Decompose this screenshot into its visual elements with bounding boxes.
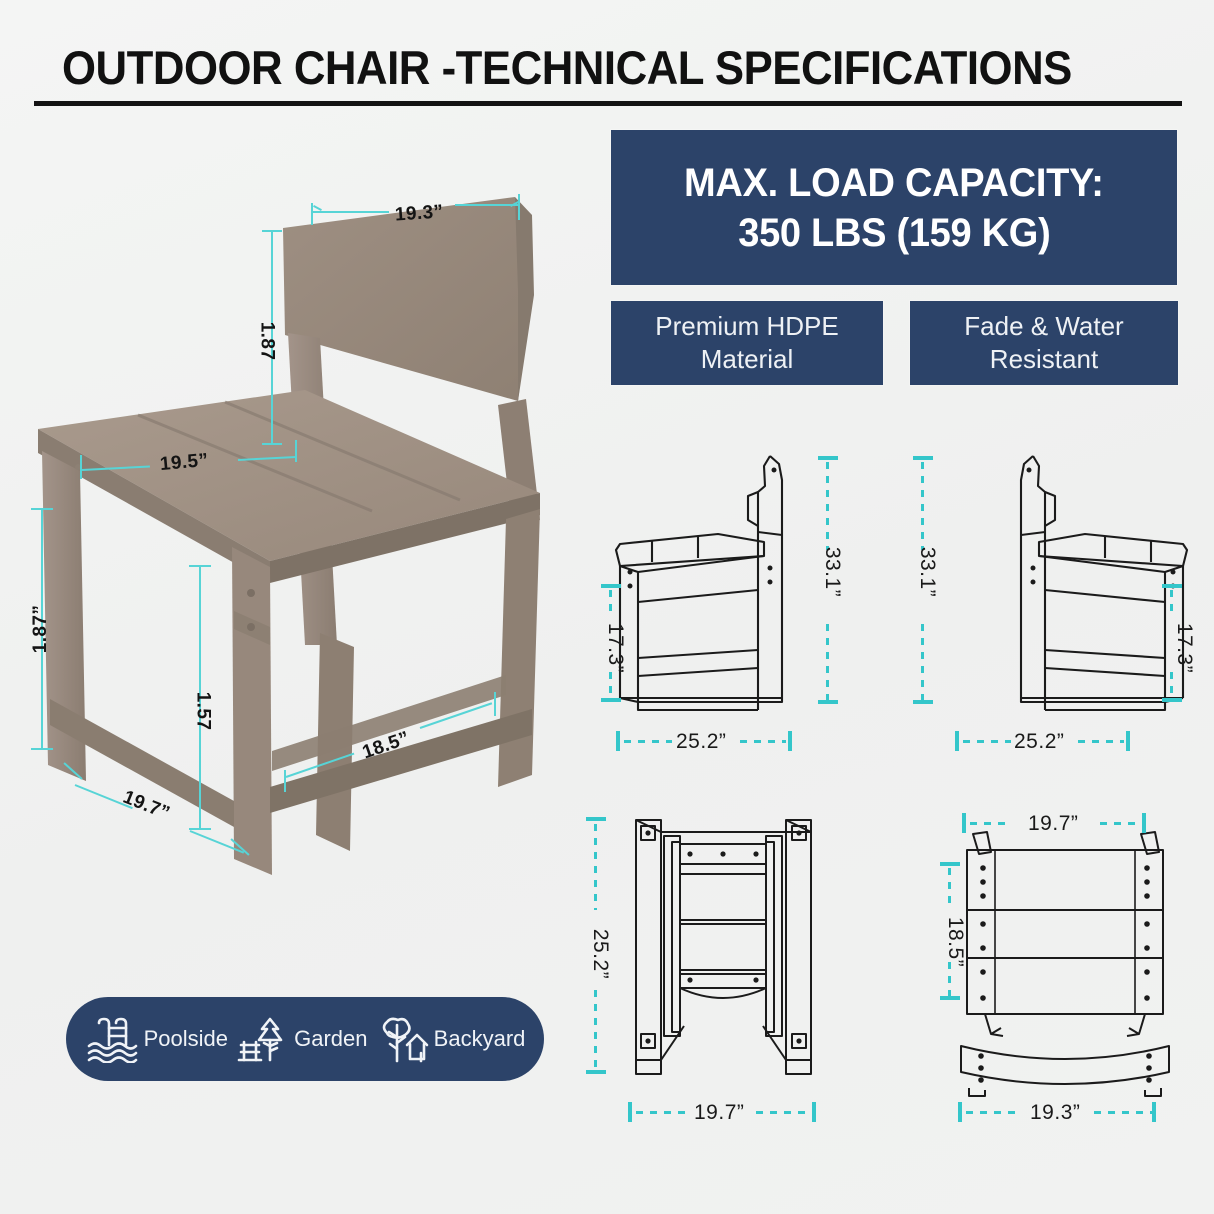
feature-badge-hdpe-label: Premium HDPE Material bbox=[611, 310, 883, 377]
hero-dim-seat-width-label: 19.5” bbox=[159, 450, 209, 476]
hero-dim-total-height-label: 1.87” bbox=[30, 605, 52, 653]
side-view-left-depth-label: 25.2” bbox=[676, 730, 726, 754]
screw-icon bbox=[247, 589, 255, 597]
front-view-top-width-label: 19.7” bbox=[1028, 812, 1078, 836]
use-case-garden-label: Garden bbox=[294, 1026, 367, 1052]
chair-seat bbox=[38, 390, 540, 583]
title-divider bbox=[34, 101, 1182, 106]
top-view-width-label: 19.7” bbox=[694, 1101, 744, 1125]
use-case-poolside: Poolside bbox=[85, 1015, 228, 1063]
load-capacity-line-1: MAX. LOAD CAPACITY: bbox=[684, 158, 1104, 208]
backyard-tree-house-icon bbox=[377, 1015, 429, 1063]
feature-badge-fade-water: Fade & Water Resistant bbox=[910, 301, 1178, 385]
hero-dim-back-height-label: 1.87 bbox=[255, 322, 277, 361]
side-view-left-height-label: 33.1” bbox=[820, 547, 844, 597]
hero-dim-back-width-label: 19.3” bbox=[394, 201, 444, 226]
use-case-badge-group: Poolside Garden bbox=[66, 997, 544, 1081]
side-view-right-seat-height-label: 17.3” bbox=[1172, 623, 1196, 673]
use-case-garden: Garden bbox=[237, 1015, 367, 1063]
pool-icon bbox=[85, 1015, 139, 1063]
hero-dim-seat-height-label: 1.57 bbox=[191, 692, 213, 731]
infographic-page: OUTDOOR CHAIR -TECHNICAL SPECIFICATIONS … bbox=[0, 0, 1214, 1214]
use-case-poolside-label: Poolside bbox=[144, 1026, 228, 1052]
side-view-right-drawing bbox=[945, 440, 1205, 740]
use-case-backyard: Backyard bbox=[377, 1015, 526, 1063]
front-view-drawing bbox=[955, 822, 1195, 1102]
use-case-backyard-label: Backyard bbox=[434, 1026, 526, 1052]
chair-leg-rear-right bbox=[498, 509, 540, 787]
front-view-bottom-width-label: 19.3” bbox=[1030, 1101, 1080, 1125]
side-view-right-depth-label: 25.2” bbox=[1014, 730, 1064, 754]
top-view-drawing bbox=[608, 812, 858, 1102]
top-view-depth-label: 25.2” bbox=[588, 929, 612, 979]
load-capacity-line-2: 350 LBS (159 KG) bbox=[738, 208, 1050, 258]
feature-badge-fade-water-label: Fade & Water Resistant bbox=[910, 310, 1178, 377]
page-title: OUTDOOR CHAIR -TECHNICAL SPECIFICATIONS bbox=[62, 44, 1076, 91]
feature-badge-hdpe: Premium HDPE Material bbox=[611, 301, 883, 385]
screw-icon bbox=[247, 623, 255, 631]
side-view-right-height-label: 33.1” bbox=[915, 547, 939, 597]
side-view-left-seat-height-label: 17.3” bbox=[603, 623, 627, 673]
max-load-capacity-banner: MAX. LOAD CAPACITY: 350 LBS (159 KG) bbox=[611, 130, 1177, 285]
front-view-back-height-label: 18.5” bbox=[943, 917, 967, 967]
garden-tree-bench-icon bbox=[237, 1015, 289, 1063]
side-view-left-drawing bbox=[598, 440, 858, 740]
